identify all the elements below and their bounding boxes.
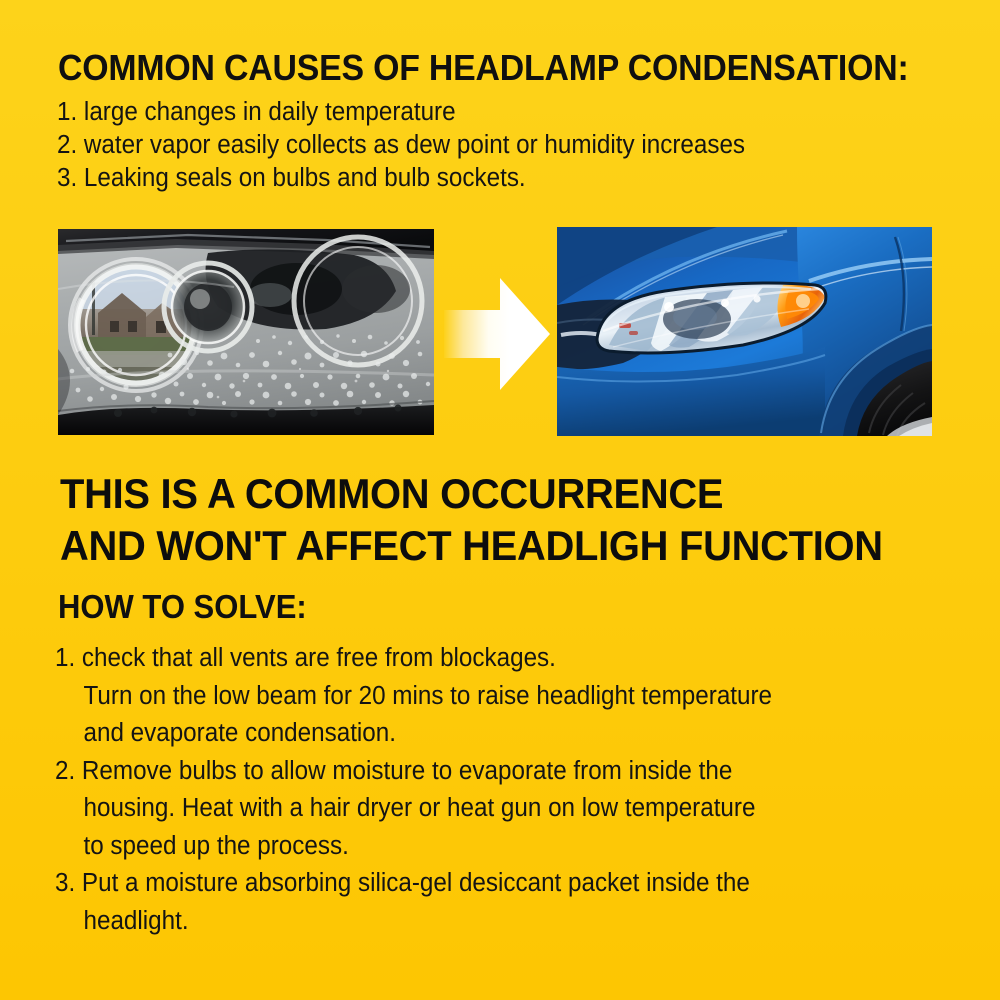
list-item: 2. water vapor easily collects as dew po… xyxy=(57,129,912,162)
banner-line-2: AND WON'T AFFECT HEADLIGH FUNCTION xyxy=(60,520,883,572)
list-item-continuation: and evaporate condensation. xyxy=(55,715,920,753)
list-item-continuation: to speed up the process. xyxy=(55,828,920,866)
photo-foggy-headlamp xyxy=(58,229,434,435)
list-item: 1. large changes in daily temperature xyxy=(57,96,912,129)
list-item: 3. Put a moisture absorbing silica-gel d… xyxy=(55,865,920,903)
foggy-headlamp-illustration xyxy=(58,229,434,435)
right-arrow-icon xyxy=(444,276,550,392)
photo-clear-headlight-blue-car xyxy=(557,227,932,436)
solve-list: 1. check that all vents are free from bl… xyxy=(55,640,965,940)
solve-heading: HOW TO SOLVE: xyxy=(58,588,307,626)
list-item: 2. Remove bulbs to allow moisture to eva… xyxy=(55,753,920,791)
blue-car-headlight-illustration xyxy=(557,227,932,436)
list-item-continuation: headlight. xyxy=(55,903,920,941)
causes-list: 1. large changes in daily temperature 2.… xyxy=(57,96,957,195)
infographic-poster: COMMON CAUSES OF HEADLAMP CONDENSATION: … xyxy=(0,0,1000,1000)
list-item: 1. check that all vents are free from bl… xyxy=(55,640,920,678)
list-item: 3. Leaking seals on bulbs and bulb socke… xyxy=(57,162,912,195)
list-item-continuation: Turn on the low beam for 20 mins to rais… xyxy=(55,678,920,716)
banner-statement: THIS IS A COMMON OCCURRENCE AND WON'T AF… xyxy=(60,468,883,572)
banner-line-1: THIS IS A COMMON OCCURRENCE xyxy=(60,468,883,520)
list-item-continuation: housing. Heat with a hair dryer or heat … xyxy=(55,790,920,828)
causes-heading: COMMON CAUSES OF HEADLAMP CONDENSATION: xyxy=(58,47,909,89)
